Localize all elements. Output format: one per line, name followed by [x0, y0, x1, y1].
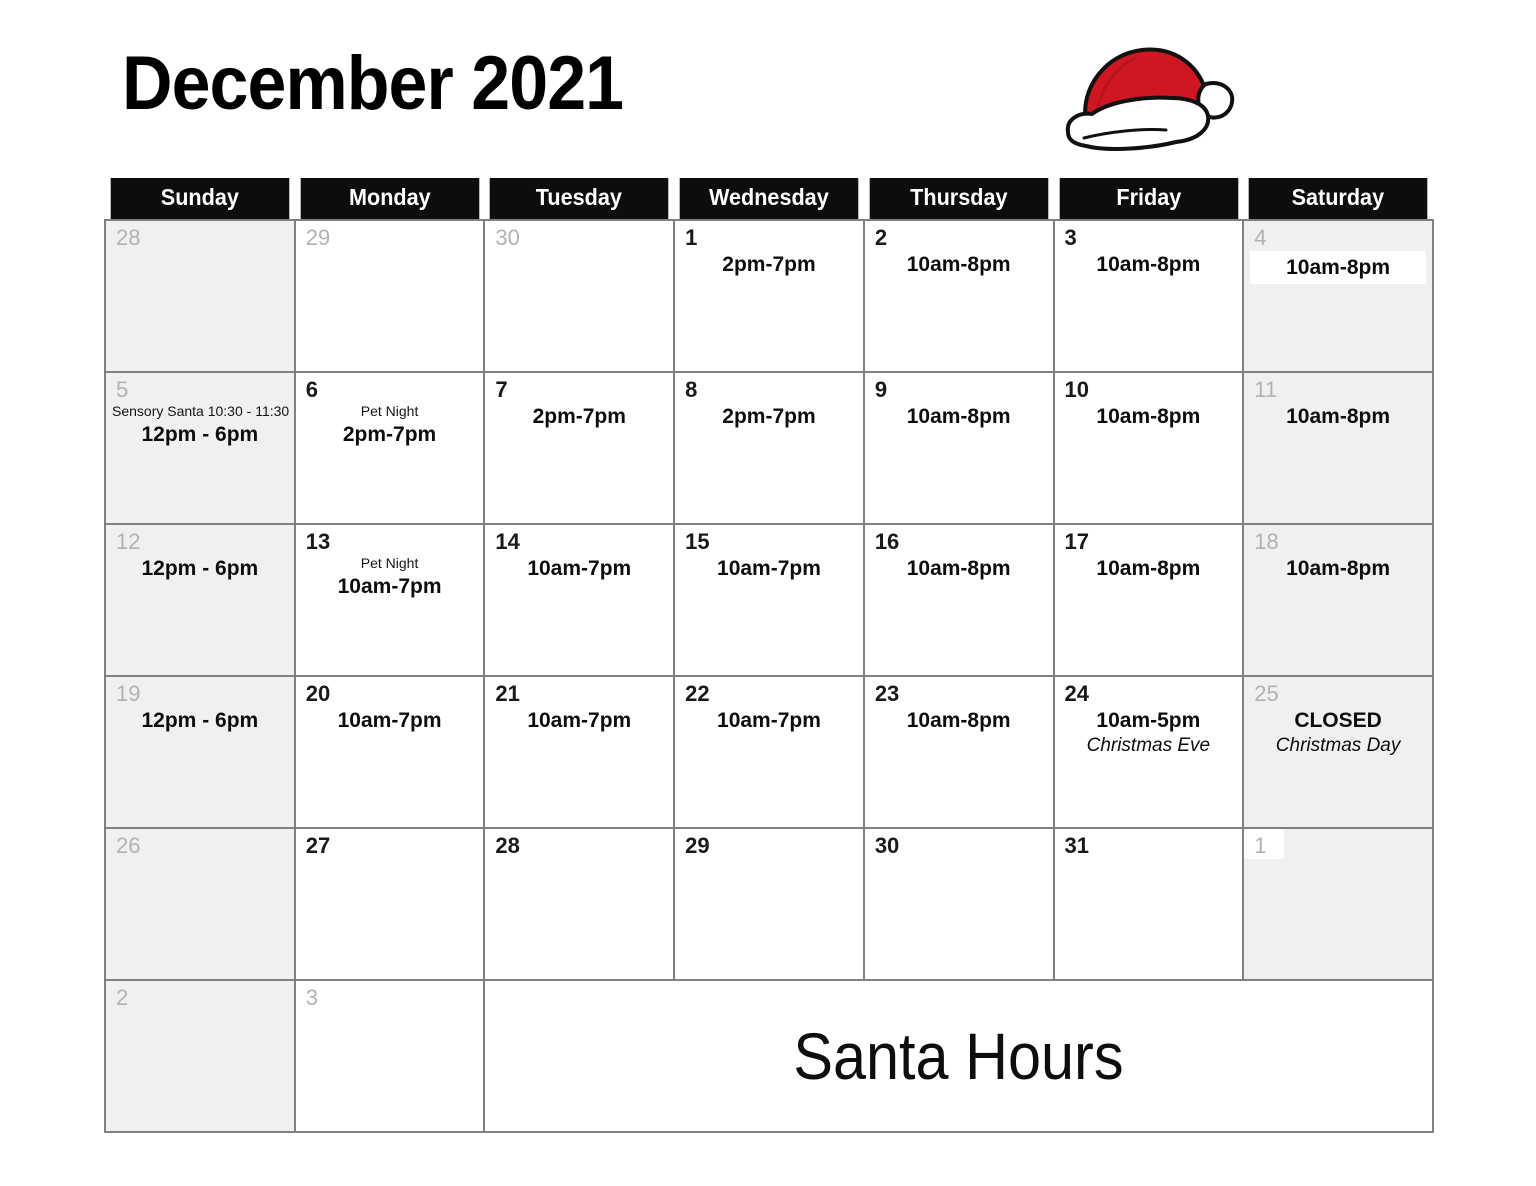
day-hours: 10am-8pm [871, 251, 1047, 278]
page-title: December 2021 [122, 46, 623, 122]
day-cell[interactable]: 910am-8pm [864, 372, 1054, 524]
day-cell[interactable]: 410am-8pm [1243, 220, 1433, 372]
day-hours: 10am-7pm [302, 707, 478, 734]
day-hours: 2pm-7pm [302, 421, 478, 448]
day-content: 2pm-7pm [485, 403, 673, 430]
day-hours: 2pm-7pm [681, 403, 857, 430]
calendar-page: December 2021 Sunday Monday [0, 0, 1536, 1186]
day-hours: 10am-8pm [1250, 403, 1426, 430]
day-cell[interactable]: 1610am-8pm [864, 524, 1054, 676]
month-weeks: 28293012pm-7pm210am-8pm310am-8pm410am-8p… [105, 220, 1433, 980]
day-number: 4 [1244, 221, 1432, 249]
day-content: 10am-8pm [1055, 555, 1243, 582]
weekday-header-tuesday: Tuesday [490, 178, 668, 220]
day-number: 29 [675, 829, 863, 857]
day-cell[interactable]: 2410am-5pmChristmas Eve [1054, 676, 1244, 828]
day-hours: 10am-8pm [871, 403, 1047, 430]
day-hours: 10am-7pm [681, 707, 857, 734]
day-number: 30 [485, 221, 673, 249]
day-content: 10am-8pm [1055, 403, 1243, 430]
day-number: 24 [1055, 677, 1243, 705]
day-cell[interactable]: 12pm-7pm [674, 220, 864, 372]
day-number: 29 [296, 221, 484, 249]
day-cell[interactable]: 1 [1243, 828, 1433, 980]
day-content: 12pm - 6pm [106, 707, 294, 734]
day-hours: CLOSED [1250, 707, 1426, 734]
day-hours: 12pm - 6pm [112, 555, 288, 582]
day-number: 25 [1244, 677, 1432, 705]
day-hours: 12pm - 6pm [112, 707, 288, 734]
day-number: 16 [865, 525, 1053, 553]
day-content: 10am-8pm [865, 555, 1053, 582]
day-hours: 10am-8pm [871, 555, 1047, 582]
week-row: 1212pm - 6pm13Pet Night10am-7pm1410am-7p… [105, 524, 1433, 676]
day-number: 20 [296, 677, 484, 705]
santa-hat-icon [1056, 32, 1236, 162]
day-cell[interactable]: 310am-8pm [1054, 220, 1244, 372]
day-cell[interactable]: 2310am-8pm [864, 676, 1054, 828]
day-cell[interactable]: 25CLOSEDChristmas Day [1243, 676, 1433, 828]
day-cell[interactable]: 29 [674, 828, 864, 980]
day-cell[interactable]: 72pm-7pm [484, 372, 674, 524]
day-hours: 10am-8pm [871, 707, 1047, 734]
day-event-note: Pet Night [302, 403, 478, 421]
day-content: 10am-7pm [296, 707, 484, 734]
day-cell[interactable]: 30 [484, 220, 674, 372]
day-number: 3 [296, 981, 484, 1009]
weekday-header-monday: Monday [300, 178, 478, 220]
day-cell[interactable]: 1810am-8pm [1243, 524, 1433, 676]
day-cell[interactable]: 2010am-7pm [295, 676, 485, 828]
day-hours: 10am-8pm [1061, 403, 1237, 430]
day-content: 10am-8pm [1244, 403, 1432, 430]
day-number: 2 [865, 221, 1053, 249]
day-hours: 2pm-7pm [491, 403, 667, 430]
day-content: 2pm-7pm [675, 403, 863, 430]
day-cell[interactable]: 1212pm - 6pm [105, 524, 295, 676]
day-number: 7 [485, 373, 673, 401]
day-content: 10am-7pm [675, 707, 863, 734]
month-grid: Sunday Monday Tuesday Wednesday Thursday… [104, 178, 1434, 1133]
day-hours: 10am-7pm [491, 707, 667, 734]
weekday-header-wednesday: Wednesday [680, 178, 858, 220]
day-cell[interactable]: 1410am-7pm [484, 524, 674, 676]
day-number: 28 [106, 221, 294, 249]
day-cell[interactable]: 2110am-7pm [484, 676, 674, 828]
day-cell[interactable]: 28 [484, 828, 674, 980]
week-row: 5Sensory Santa 10:30 - 11:3012pm - 6pm6P… [105, 372, 1433, 524]
day-number: 9 [865, 373, 1053, 401]
day-content: 10am-8pm [1244, 251, 1432, 284]
day-hours: 10am-7pm [681, 555, 857, 582]
day-content: 10am-8pm [1244, 555, 1432, 582]
day-number: 18 [1244, 525, 1432, 553]
day-number: 27 [296, 829, 484, 857]
day-holiday-label: Christmas Eve [1061, 734, 1237, 759]
day-number: 6 [296, 373, 484, 401]
day-cell[interactable]: 28 [105, 220, 295, 372]
day-cell[interactable]: 1010am-8pm [1054, 372, 1244, 524]
day-content: 10am-7pm [485, 555, 673, 582]
santa-hours-banner: Santa Hours [484, 980, 1433, 1132]
day-hours: 10am-8pm [1061, 251, 1237, 278]
day-content: 10am-7pm [675, 555, 863, 582]
day-number: 17 [1055, 525, 1243, 553]
weekday-header-thursday: Thursday [870, 178, 1048, 220]
week-row: 28293012pm-7pm210am-8pm310am-8pm410am-8p… [105, 220, 1433, 372]
day-hours: 10am-7pm [302, 573, 478, 600]
day-content: 10am-5pmChristmas Eve [1055, 707, 1243, 759]
day-number: 26 [106, 829, 294, 857]
week-row: 2627282930311 [105, 828, 1433, 980]
weekday-header-sunday: Sunday [111, 178, 289, 220]
footer-row: 2 3 Santa Hours [105, 980, 1433, 1132]
weekday-header-row: Sunday Monday Tuesday Wednesday Thursday… [105, 178, 1433, 220]
day-number: 2 [106, 981, 294, 1009]
day-content: Pet Night2pm-7pm [296, 403, 484, 448]
day-number: 10 [1055, 373, 1243, 401]
day-content: Sensory Santa 10:30 - 11:3012pm - 6pm [106, 403, 294, 448]
day-number: 14 [485, 525, 673, 553]
day-cell[interactable]: 13Pet Night10am-7pm [295, 524, 485, 676]
day-content: 10am-8pm [865, 251, 1053, 278]
day-number: 21 [485, 677, 673, 705]
day-cell[interactable]: 1510am-7pm [674, 524, 864, 676]
day-content: 10am-8pm [1055, 251, 1243, 278]
day-hours: 10am-8pm [1250, 555, 1426, 582]
day-cell[interactable]: 6Pet Night2pm-7pm [295, 372, 485, 524]
day-cell[interactable]: 31 [1054, 828, 1244, 980]
day-number: 22 [675, 677, 863, 705]
weekday-header-saturday: Saturday [1249, 178, 1427, 220]
weekday-header-friday: Friday [1059, 178, 1237, 220]
day-event-note: Pet Night [302, 555, 478, 573]
day-cell[interactable]: 3 [295, 980, 485, 1132]
day-content: 10am-8pm [865, 403, 1053, 430]
day-hours: 10am-5pm [1061, 707, 1237, 734]
day-number: 1 [675, 221, 863, 249]
day-number: 3 [1055, 221, 1243, 249]
week-row: 1912pm - 6pm2010am-7pm2110am-7pm2210am-7… [105, 676, 1433, 828]
day-content: 12pm - 6pm [106, 555, 294, 582]
day-number: 23 [865, 677, 1053, 705]
day-number: 30 [865, 829, 1053, 857]
day-cell[interactable]: 27 [295, 828, 485, 980]
day-number: 19 [106, 677, 294, 705]
day-cell[interactable]: 1710am-8pm [1054, 524, 1244, 676]
day-cell[interactable]: 1912pm - 6pm [105, 676, 295, 828]
day-cell[interactable]: 2 [105, 980, 295, 1132]
day-number: 11 [1244, 373, 1432, 401]
day-number: 8 [675, 373, 863, 401]
day-number: 28 [485, 829, 673, 857]
day-hours: 10am-8pm [1250, 251, 1426, 284]
day-number: 1 [1244, 829, 1284, 859]
day-cell[interactable]: 26 [105, 828, 295, 980]
santa-hours-banner-text: Santa Hours [794, 1023, 1124, 1089]
day-hours: 2pm-7pm [681, 251, 857, 278]
day-holiday-label: Christmas Day [1250, 734, 1426, 759]
day-number: 13 [296, 525, 484, 553]
day-event-note: Sensory Santa 10:30 - 11:30 [112, 403, 288, 421]
day-hours: 10am-7pm [491, 555, 667, 582]
day-content: 10am-7pm [485, 707, 673, 734]
day-cell[interactable]: 82pm-7pm [674, 372, 864, 524]
day-cell[interactable]: 2210am-7pm [674, 676, 864, 828]
day-number: 31 [1055, 829, 1243, 857]
day-cell[interactable]: 1110am-8pm [1243, 372, 1433, 524]
day-content: CLOSEDChristmas Day [1244, 707, 1432, 759]
day-cell[interactable]: 30 [864, 828, 1054, 980]
day-cell[interactable]: 5Sensory Santa 10:30 - 11:3012pm - 6pm [105, 372, 295, 524]
day-hours: 10am-8pm [1061, 555, 1237, 582]
day-hours: 12pm - 6pm [112, 421, 288, 448]
day-number: 12 [106, 525, 294, 553]
day-number: 5 [106, 373, 294, 401]
day-cell[interactable]: 210am-8pm [864, 220, 1054, 372]
day-content: 2pm-7pm [675, 251, 863, 278]
day-cell[interactable]: 29 [295, 220, 485, 372]
day-number: 15 [675, 525, 863, 553]
day-content: 10am-8pm [865, 707, 1053, 734]
day-content: Pet Night10am-7pm [296, 555, 484, 600]
page-header: December 2021 [0, 0, 1536, 178]
